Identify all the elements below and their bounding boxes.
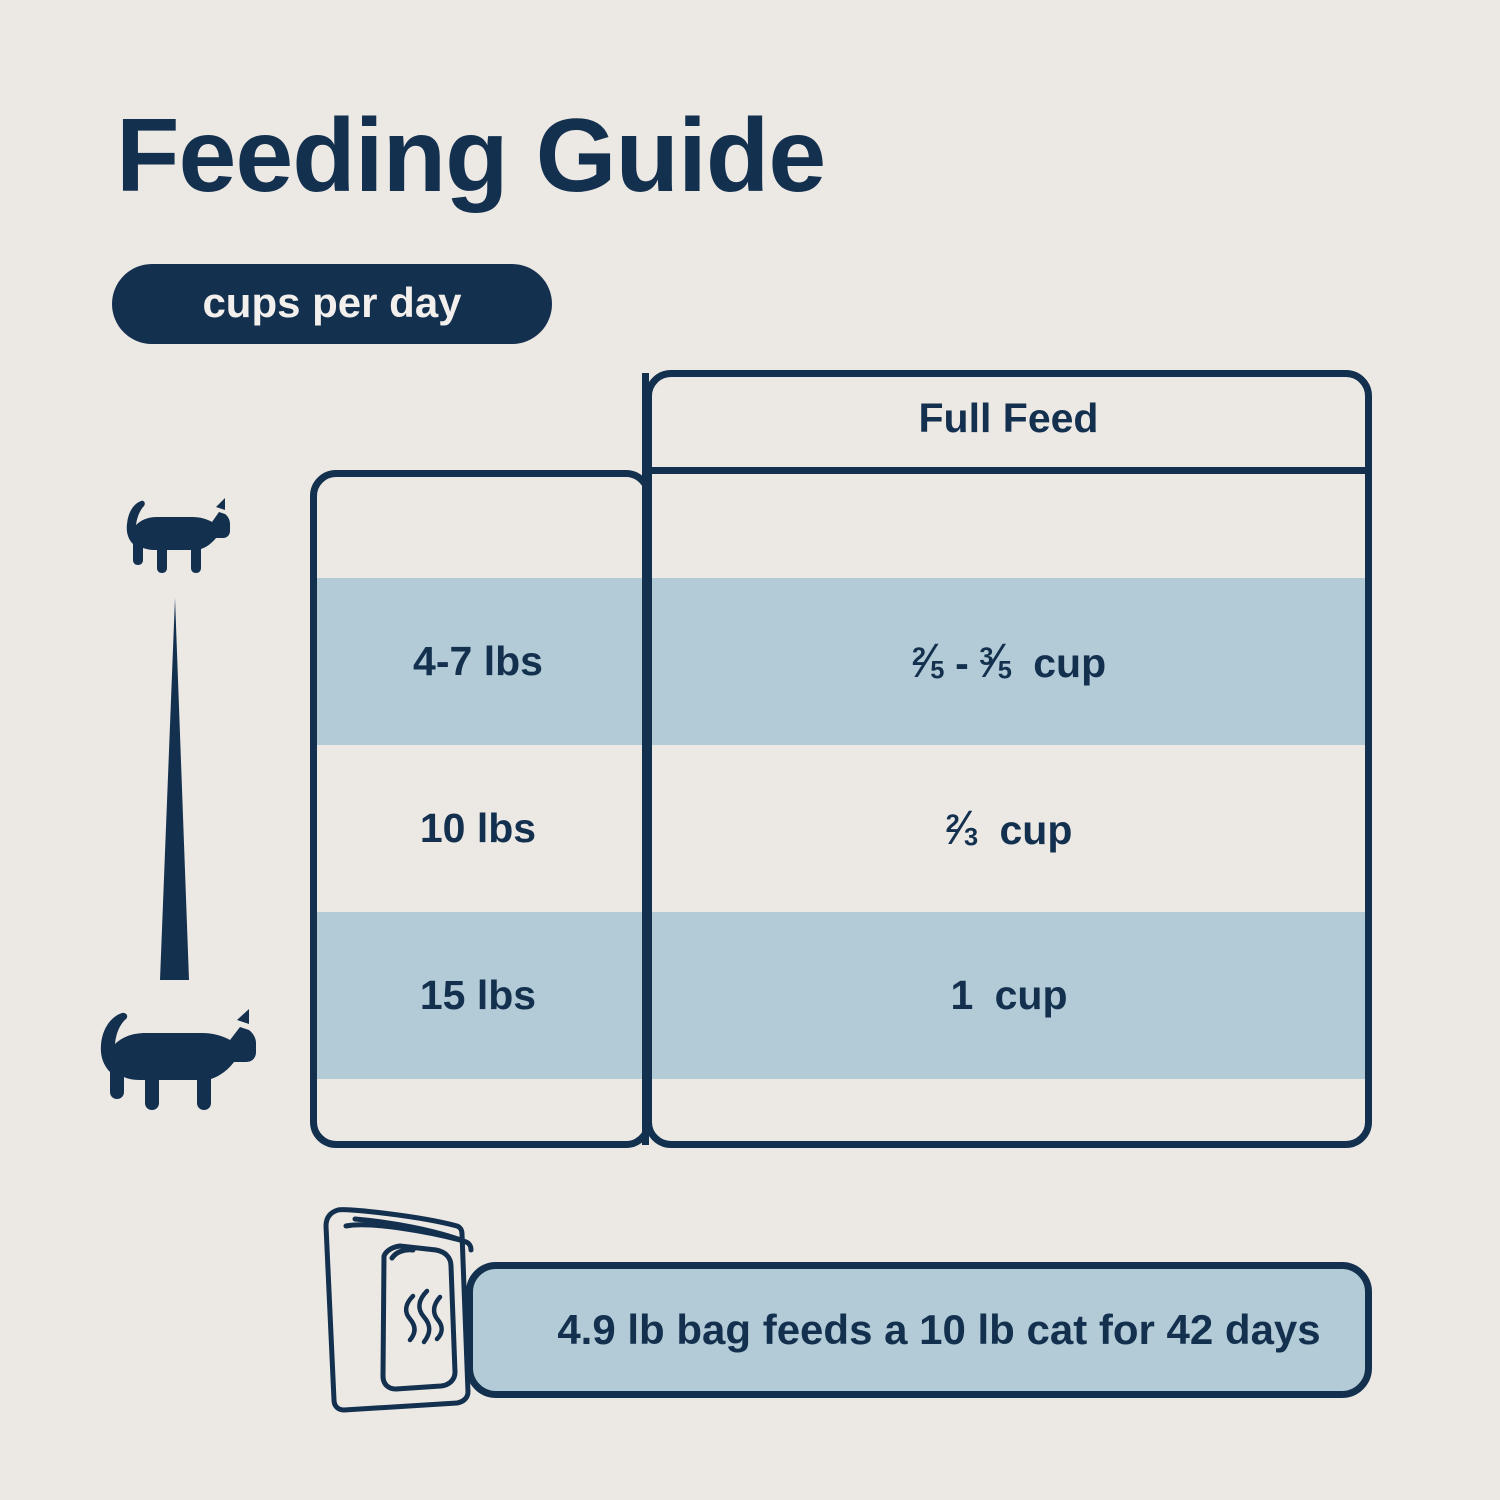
- bag-duration-banner: 4.9 lb bag feeds a 10 lb cat for 42 days: [466, 1262, 1372, 1398]
- bag-duration-text: 4.9 lb bag feeds a 10 lb cat for 42 days: [517, 1309, 1320, 1351]
- fraction-numerator: 1: [962, 1144, 976, 1172]
- amount-whole: 1: [929, 1141, 952, 1187]
- amount-column-header: Full Feed: [645, 370, 1372, 467]
- flame-stroke-3: [434, 1297, 442, 1339]
- weight-column-outline: [310, 470, 652, 1148]
- amount-column-header-label: Full Feed: [919, 398, 1099, 439]
- flame-stroke-1: [406, 1296, 414, 1340]
- feeding-table: 4-7 lbs 2⁄5-3⁄5cup 10 lbs 2⁄3cup 15 lbs: [310, 370, 1372, 1148]
- food-bag-icon: [300, 1196, 510, 1416]
- fraction-denominator: 5: [981, 1158, 995, 1186]
- size-scale-wedge-icon: [148, 598, 208, 980]
- column-divider: [642, 373, 649, 1145]
- cat-silhouette-large-icon: [82, 1000, 264, 1125]
- feeding-guide-page: Feeding Guide cups per day 4-7 lbs 2⁄5-3…: [0, 0, 1500, 1500]
- cups-per-day-badge: cups per day: [112, 264, 552, 344]
- amount-column-outline: [645, 370, 1372, 1148]
- amount-unit: cup: [1016, 1141, 1089, 1187]
- cups-per-day-badge-label: cups per day: [202, 282, 461, 327]
- cat-silhouette-small-icon: [115, 490, 235, 590]
- page-title: Feeding Guide: [116, 104, 825, 208]
- header-divider: [645, 467, 1372, 474]
- flame-stroke-2: [419, 1291, 429, 1342]
